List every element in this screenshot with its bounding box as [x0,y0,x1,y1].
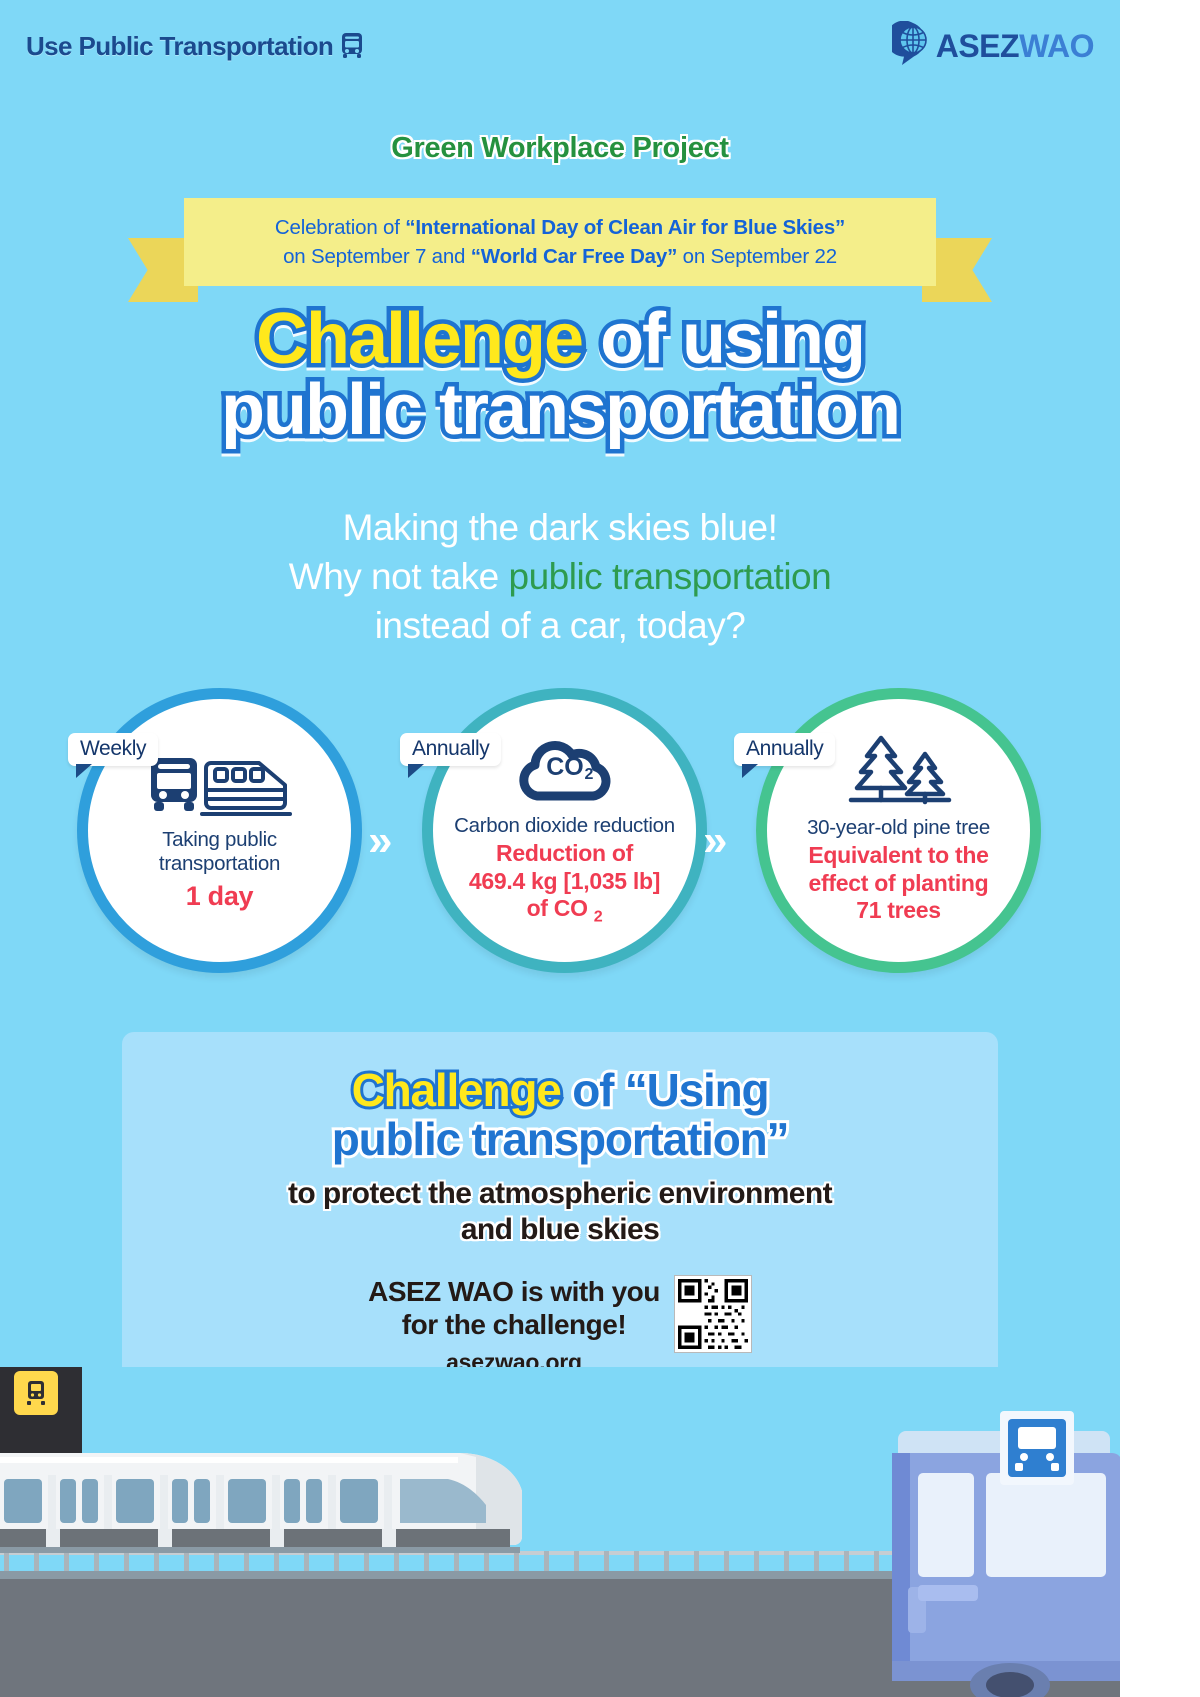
header-left-group: Use Public Transportation [26,31,365,62]
panel-subtitle-line-1: to protect the atmospheric environment [288,1176,832,1213]
step-tag-weekly: Weekly [68,733,158,766]
panel-title-line-1: Challenge of “Using [332,1066,789,1115]
page-title-line-1: Challenge of using [0,304,1120,375]
step-card-co2-reduction: CO 2 Carbon dioxide reduction Reduction … [422,688,707,973]
page-title: Challenge of using public transportation [0,304,1120,445]
ribbon-line-1-bold: “International Day of Clean Air for Blue… [405,216,845,239]
page-title-highlight: Challenge [256,299,582,379]
subtitle-line-2-a: Why not take [289,556,509,597]
ribbon-line-1: Celebration of “International Day of Cle… [275,213,845,242]
panel-subtitle-line-2: and blue skies [288,1212,832,1249]
page-title-rest: of using [582,299,864,379]
ribbon-banner: Celebration of “International Day of Cle… [0,190,1120,308]
bus-icon [339,31,365,61]
train-sign-icon [14,1371,58,1415]
subtitle-line-2: Why not take public transportation [0,553,1120,602]
ribbon-body: Celebration of “International Day of Cle… [184,198,936,286]
step-tag-annually-2: Annually [734,733,835,766]
globe-speech-bubble-icon [892,21,934,72]
ribbon-line-2: on September 7 and “World Car Free Day” … [283,242,837,271]
step-label: 30-year-old pine tree [807,816,990,840]
cta-line-2: for the challenge! [368,1308,660,1341]
pine-trees-icon [837,736,961,808]
subway-train-art [0,1435,530,1557]
co2-cloud-icon: CO 2 [501,734,629,806]
project-label: Green Workplace Project [0,132,1120,165]
step-value: Equivalent to theeffect of planting71 tr… [808,842,988,925]
step-label: Taking publictransportation [159,828,280,876]
panel-subtitle: to protect the atmospheric environment a… [288,1176,832,1249]
svg-text:CO: CO [546,753,584,781]
panel-title-rest: of “Using [561,1064,769,1116]
subtitle-line-3: instead of a car, today? [0,602,1120,651]
bottom-illustration [0,1367,1120,1697]
ribbon-line-2-prefix: on September 7 and [283,245,471,268]
logo-wao: WAO [1019,28,1094,64]
poster-root: Use Public Transportation [0,0,1120,1697]
step-card-tree-equivalent: 30-year-old pine tree Equivalent to thee… [756,688,1041,973]
panel-title-line-2: public transportation” [332,1115,789,1164]
ribbon-line-1-prefix: Celebration of [275,216,405,239]
chevron-right-icon-1: » [368,816,386,866]
svg-text:2: 2 [584,766,593,783]
step-label: Carbon dioxide reduction [454,814,675,838]
step-card-taking-transit: Taking publictransportation 1 day [77,688,362,973]
poster-header: Use Public Transportation [0,0,1120,92]
impact-steps: Taking publictransportation 1 day CO 2 C… [0,688,1120,988]
city-bus-art [882,1397,1120,1697]
panel-title-highlight: Challenge [352,1064,561,1116]
qr-code[interactable] [674,1275,752,1353]
subtitle-line-1: Making the dark skies blue! [0,504,1120,553]
page-title-line-2: public transportation [0,375,1120,446]
step-value: Reduction of469.4 kg [1,035 lb]of CO 2 [469,840,660,927]
asezwao-logo[interactable]: ASEZWAO [892,21,1094,72]
step-tag-annually-1: Annually [400,733,501,766]
ribbon-line-2-bold: “World Car Free Day” [471,245,677,268]
page-subtitle: Making the dark skies blue! Why not take… [0,504,1120,650]
ribbon-line-2-suffix: on September 22 [677,245,837,268]
panel-cta-text: ASEZ WAO is with you for the challenge! … [368,1275,660,1376]
call-to-action-panel: Challenge of “Using public transportatio… [122,1032,998,1384]
step-value: 1 day [186,880,254,912]
cta-line-1: ASEZ WAO is with you [368,1275,660,1308]
chevron-right-icon-2: » [703,816,721,866]
subtitle-line-2-green: public transportation [509,556,832,597]
panel-cta-group: ASEZ WAO is with you for the challenge! … [368,1275,752,1376]
logo-asez: ASEZ [936,28,1019,64]
bus-and-train-icon [145,748,295,820]
panel-title: Challenge of “Using public transportatio… [332,1066,789,1164]
logo-wordmark: ASEZWAO [936,28,1094,65]
header-title: Use Public Transportation [26,31,333,62]
